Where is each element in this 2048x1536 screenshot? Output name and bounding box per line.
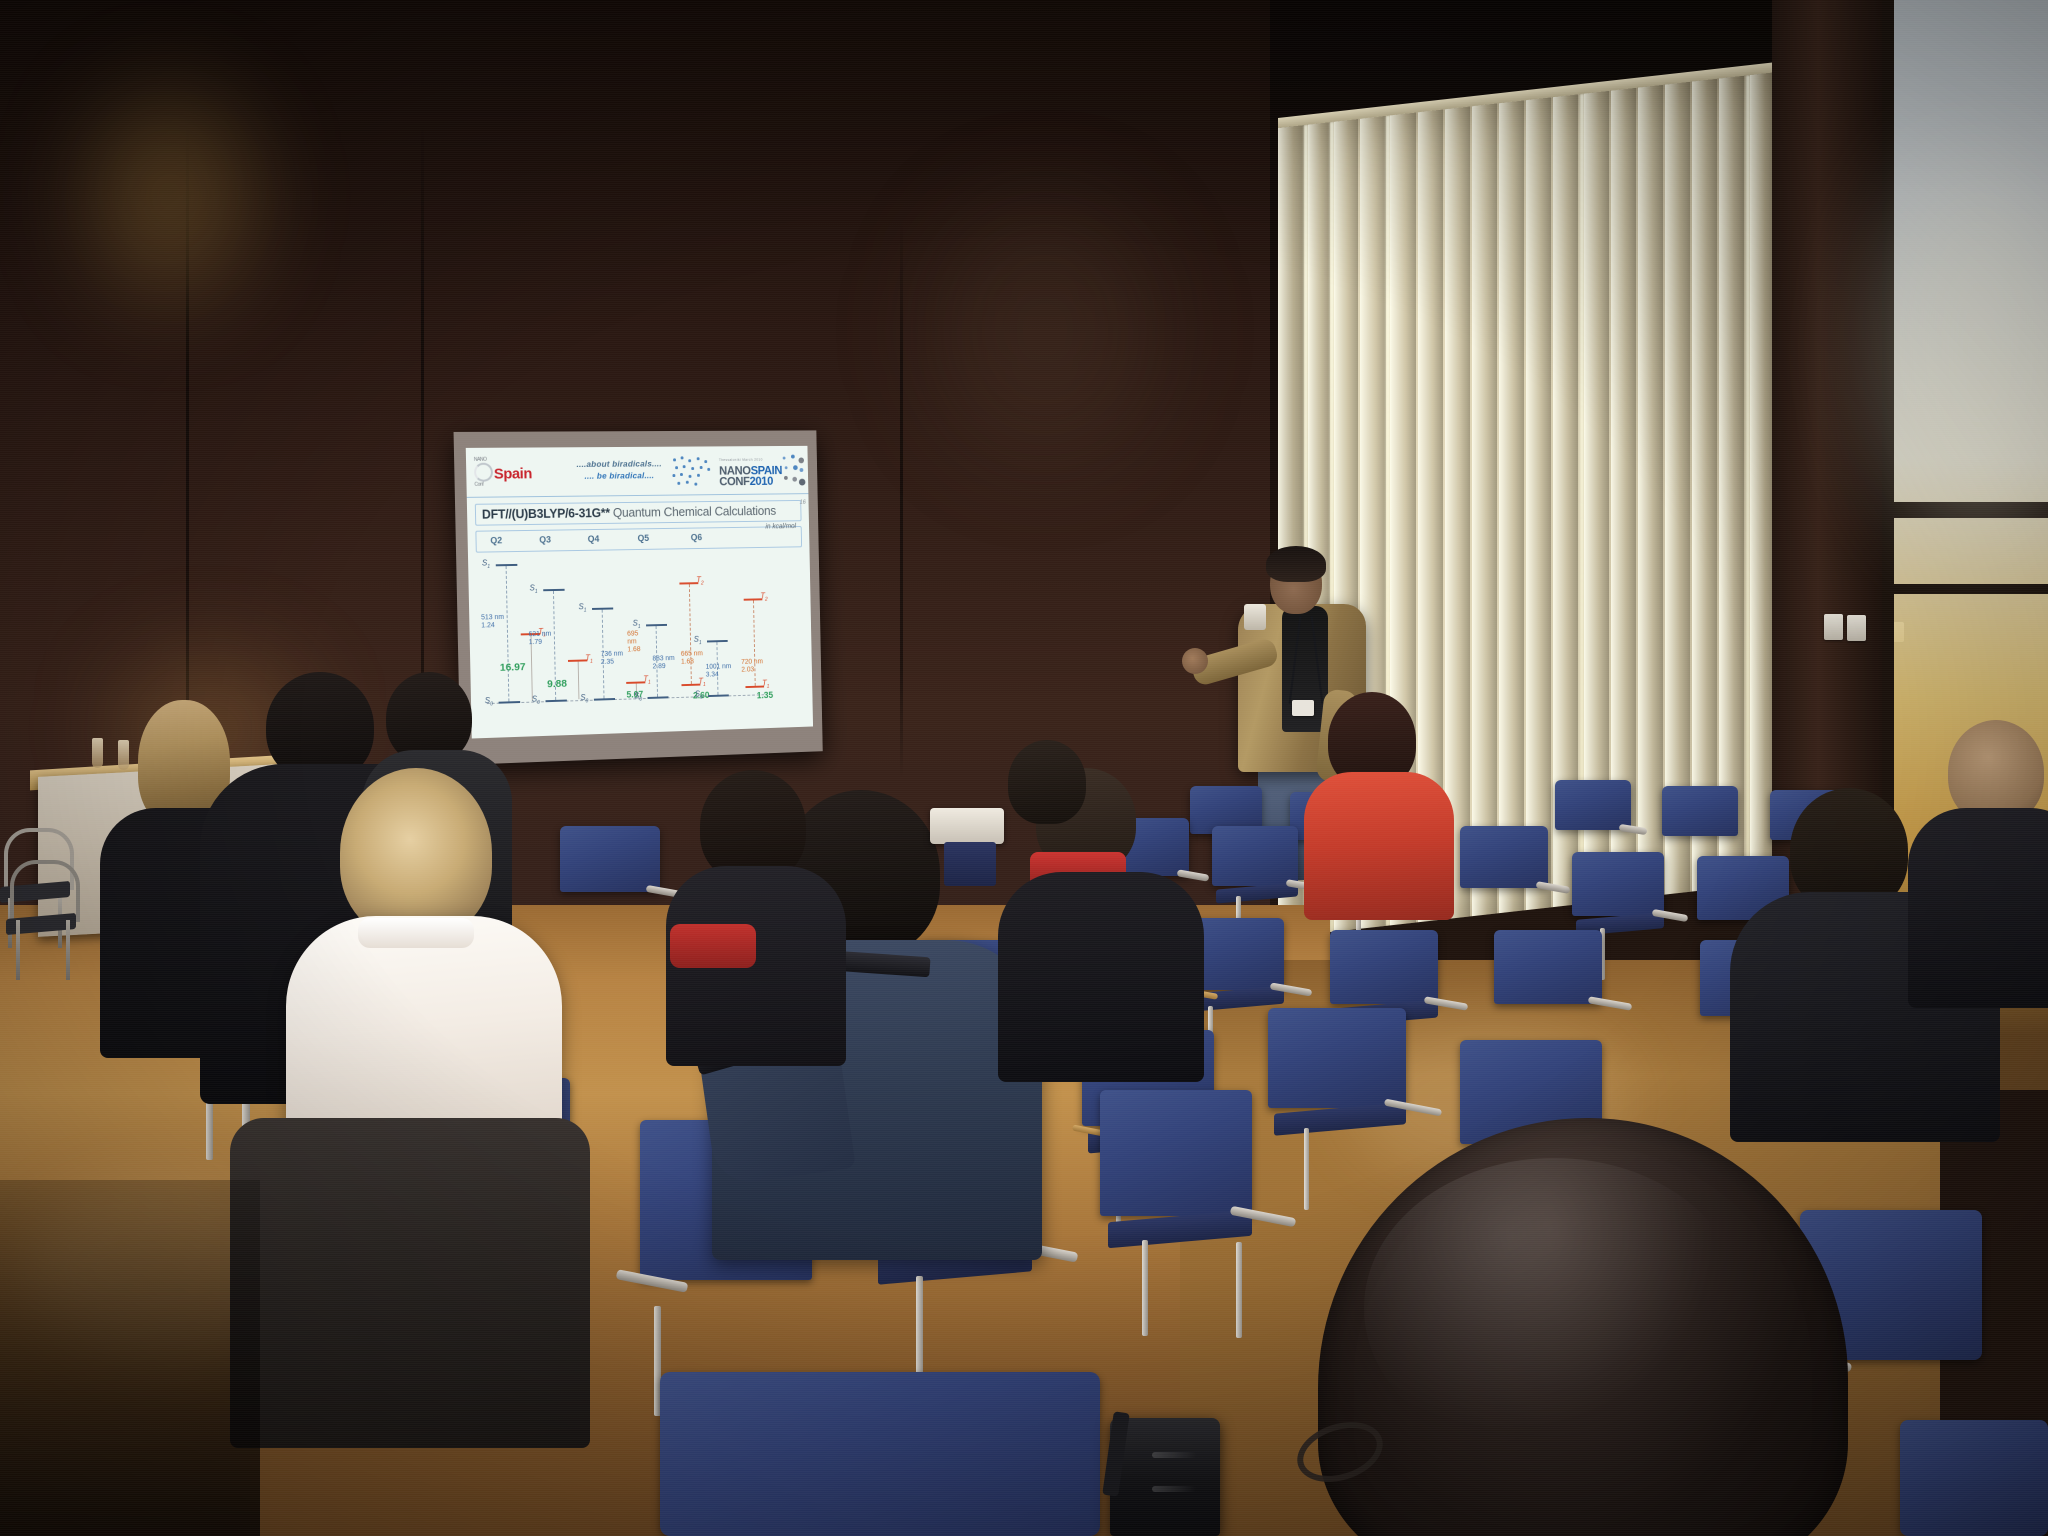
head	[340, 768, 492, 938]
chair[interactable]	[1268, 1008, 1413, 1168]
label-s1: S1	[633, 619, 641, 631]
transition-t1-t2	[689, 584, 692, 684]
foreground-shadow	[0, 1180, 260, 1536]
tagline-line-2: .... be biradical....	[577, 469, 662, 482]
wavelength-t-q6: 720 nm 2.03	[741, 658, 763, 674]
level-s0	[594, 698, 615, 701]
slide-header: NANO Spain Conf ....about biradicals....…	[466, 446, 809, 498]
chair[interactable]	[660, 1372, 1100, 1536]
wavelength-value: 883 nm	[652, 655, 674, 662]
wavelength-q5: 883 nm 2.89	[652, 655, 674, 671]
label-s1: S1	[578, 603, 586, 615]
label-s0: S0	[532, 695, 540, 707]
head	[1008, 740, 1086, 824]
wavelength-q6: 1001 nm 3.34	[706, 663, 732, 679]
slide-tagline: ....about biradicals.... .... be biradic…	[576, 458, 662, 482]
nanospain-logo: NANO Spain Conf	[474, 457, 532, 487]
gap-value-q6: 1.35	[757, 690, 773, 700]
chair[interactable]	[560, 826, 668, 926]
label-s1: S1	[694, 635, 702, 647]
logo-brand: Spain	[494, 465, 532, 482]
drinking-glass	[92, 738, 103, 768]
label-s1: S1	[482, 559, 490, 571]
label-s0: S0	[580, 693, 588, 705]
presenter-badge	[1292, 700, 1314, 716]
wavelength-q2: 513 nm 1.24	[481, 614, 504, 630]
units-label: in kcal/mol	[765, 523, 796, 530]
projector-stand	[944, 842, 996, 886]
slide-surface: NANO Spain Conf ....about biradicals....…	[466, 446, 813, 739]
logo-swirl-icon	[474, 463, 493, 482]
conference-photo: NANO Spain Conf ....about biradicals....…	[0, 0, 2048, 1536]
window-mullion	[1882, 584, 2048, 594]
energy-value: 1.79	[529, 639, 542, 646]
label-t1: T1	[762, 679, 769, 690]
transition-s0-s1	[506, 566, 510, 701]
energy-value: 1.68	[681, 658, 694, 665]
wavelength-value: 621 nm	[528, 631, 551, 639]
drinking-glass	[118, 740, 129, 770]
slide-title-rest: Quantum Chemical Calculations	[610, 504, 776, 520]
wavelength-q3: 621 nm 1.79	[528, 631, 551, 647]
coat-over-chair	[230, 1118, 590, 1448]
slide-title-method: DFT//(U)B3LYP/6-31G**	[482, 506, 610, 522]
torso	[1304, 772, 1454, 920]
gap-value-q3: 9.88	[547, 678, 567, 690]
conference-mark: Thessaloniki March 2010 NANOSPAIN CONF20…	[719, 455, 783, 488]
collar	[358, 918, 474, 948]
dot-pattern-icon	[671, 454, 713, 488]
window-mullion	[1882, 502, 2048, 518]
conference-line-2: CONF2010	[719, 476, 782, 487]
level-s0	[545, 700, 566, 703]
camera-bag-highlight	[1152, 1486, 1196, 1492]
presenter-cup	[1244, 604, 1266, 630]
projector	[930, 808, 1004, 844]
label-s0: S0	[695, 690, 703, 702]
level-s0	[499, 701, 521, 704]
group-q6: S0 S1 1001 nm 3.34 T2 720 nm 2.03	[693, 589, 770, 698]
presenter-hair	[1266, 546, 1326, 582]
chair[interactable]	[1212, 826, 1306, 916]
energy-level-diagram: in kcal/mol S0 S1 513 nm 1.24 T1	[467, 521, 812, 712]
energy-value: 2.89	[653, 663, 666, 670]
wavelength-value: 736 nm	[601, 651, 624, 658]
chair[interactable]	[1662, 786, 1746, 858]
torso	[1908, 808, 2048, 1008]
chair[interactable]	[1100, 1090, 1260, 1290]
red-scarf	[670, 924, 756, 968]
light-switch[interactable]	[1824, 614, 1843, 640]
torso	[998, 872, 1204, 1082]
energy-value: 3.34	[706, 671, 719, 678]
gap-value-q2: 16.97	[500, 661, 526, 674]
conf-conf: CONF	[719, 474, 750, 488]
chair[interactable]	[1555, 780, 1639, 852]
conf-year: 2010	[749, 474, 773, 488]
light-switch[interactable]	[1847, 615, 1866, 641]
tagline-line-1: ....about biradicals....	[576, 458, 661, 468]
camera-bag-highlight	[1152, 1452, 1196, 1458]
wavelength-value: 720 nm	[741, 658, 763, 665]
logo-dot-cluster-icon	[782, 454, 805, 487]
logo-bottom-text: Conf	[474, 482, 532, 488]
level-s0	[648, 696, 669, 699]
energy-value: 1.24	[481, 622, 495, 629]
wavelength-value: 513 nm	[481, 614, 504, 622]
chair[interactable]	[1460, 826, 1556, 922]
label-s1: S1	[529, 584, 537, 596]
label-t2: T2	[696, 576, 703, 587]
wavelength-q4: 736 nm 2.35	[601, 651, 624, 667]
chair[interactable]	[1494, 930, 1610, 1048]
slide-number: 16	[800, 500, 806, 506]
chair[interactable]	[1900, 1420, 2048, 1536]
label-s0: S0	[634, 692, 642, 704]
side-chair[interactable]	[6, 860, 76, 980]
projection-screen: NANO Spain Conf ....about biradicals....…	[454, 430, 823, 765]
energy-value: 2.03	[741, 666, 754, 673]
energy-value: 2.35	[601, 659, 614, 666]
label-t2: T2	[760, 592, 767, 603]
wavelength-value: 1001 nm	[706, 663, 732, 671]
wall-panel-seam	[900, 220, 903, 780]
presenter-hand	[1182, 648, 1208, 674]
level-s0	[708, 694, 729, 697]
label-s0: S0	[485, 696, 493, 708]
